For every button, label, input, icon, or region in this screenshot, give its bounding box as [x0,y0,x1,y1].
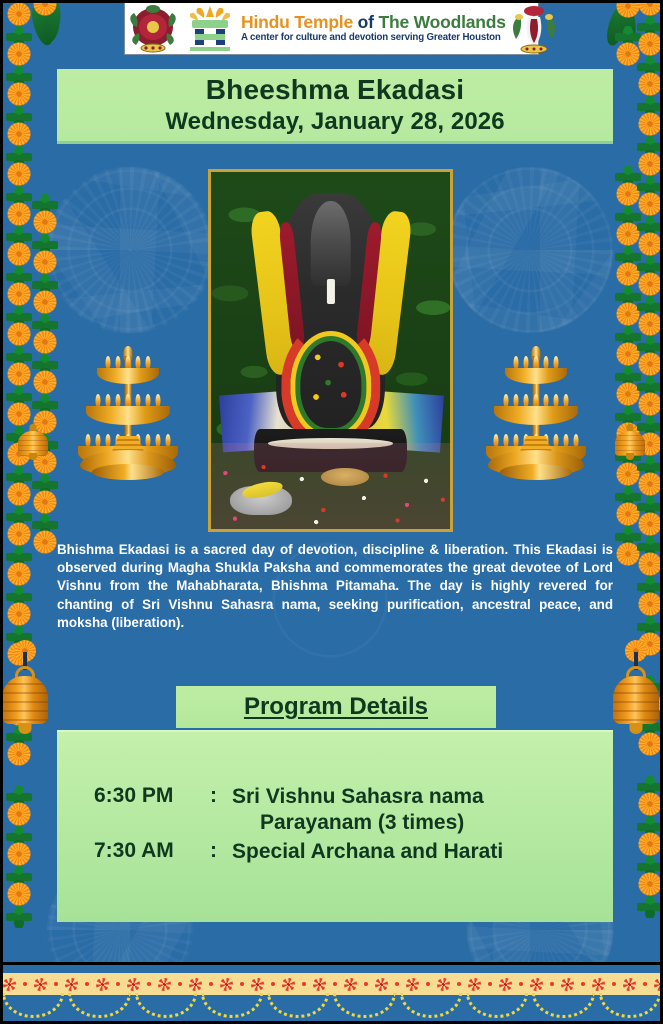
flower-band-unit [465,978,496,991]
flower-dot-icon [426,982,430,986]
logo-title-part2: of [358,12,374,32]
lamp-tier-2 [86,406,170,425]
schedule-list: 6:30 PM : Sri Vishnu Sahasra nama Paraya… [94,784,593,869]
red-flower-icon [561,978,574,991]
schedule-row: 6:30 PM : Sri Vishnu Sahasra nama Paraya… [94,784,593,835]
scallop-arc [133,993,199,1017]
event-date: Wednesday, January 28, 2026 [165,108,504,136]
program-schedule-panel: 6:30 PM : Sri Vishnu Sahasra nama Paraya… [57,730,613,922]
bottom-floral-border [0,962,663,1024]
flower-band-unit [279,978,310,991]
flower-dot-icon [116,982,120,986]
flower-dot-icon [643,982,647,986]
lamp-tier-1 [505,368,567,384]
flower-band-unit [248,978,279,991]
scallop-arc [398,993,464,1017]
flower-band-unit [93,978,124,991]
deity-photo-content [211,172,450,529]
schedule-separator: : [210,784,232,808]
red-flower-icon [34,978,47,991]
flower-dot-icon [488,982,492,986]
flower-dot-icon [85,982,89,986]
flower-dot-icon [581,982,585,986]
schedule-description: Special Archana and Harati [232,839,503,865]
flower-dot-icon [54,982,58,986]
flower-band-unit [310,978,341,991]
red-flower-icon [344,978,357,991]
flower-dot-icon [209,982,213,986]
logo-tagline: A center for culture and devotion servin… [241,33,506,43]
schedule-description: Sri Vishnu Sahasra nama Parayanam (3 tim… [232,784,484,835]
scallop-arc [331,993,397,1017]
flower-band-unit [651,978,663,991]
logo-title-part3: The Woodlands [378,12,505,32]
schedule-row: 7:30 AM : Special Archana and Harati [94,839,593,865]
program-details-label: Program Details [244,693,428,721]
page-title: Bheeshma Ekadasi [206,74,464,106]
red-flower-icon [220,978,233,991]
red-flower-icon [592,978,605,991]
flower-band-unit [0,978,31,991]
flower-band-unit [124,978,155,991]
flower-dot-icon [395,982,399,986]
flower-dot-icon [550,982,554,986]
schedule-description-line1: Special Archana and Harati [232,840,503,863]
schedule-description-line1: Sri Vishnu Sahasra nama [232,785,484,808]
red-flower-icon [96,978,109,991]
oil-lamp-deepam-icon [73,342,183,482]
flower-band-unit [186,978,217,991]
deity-photo [208,169,453,532]
scallop-arc [0,993,66,1017]
oil-lamp-deepam-icon [481,342,591,482]
chest-flowers [304,343,357,414]
offering-plate [321,468,369,486]
flower-dot-icon [612,982,616,986]
red-flower-icon [313,978,326,991]
red-flower-icon [406,978,419,991]
schedule-time: 7:30 AM [94,839,210,863]
flower-band-unit [558,978,589,991]
flower-band-unit [341,978,372,991]
schedule-time: 6:30 PM [94,784,210,808]
lamp-tier-1 [97,368,159,384]
flower-dot-icon [364,982,368,986]
temple-logo-strip: Hindu Temple of The Woodlands A center f… [124,2,539,55]
scallop-arc [66,993,132,1017]
logo-text-block: Hindu Temple of The Woodlands A center f… [239,14,506,43]
temple-emblem-icon [125,3,181,54]
flower-band-unit [372,978,403,991]
red-flower-icon [468,978,481,991]
flower-dot-icon [23,982,27,986]
deity-crown [310,201,351,287]
red-flower-icon [654,978,663,991]
flower-band-unit [31,978,62,991]
flower-band [0,973,663,995]
flower-band-unit [589,978,620,991]
scallop-arc [199,993,265,1017]
red-flower-icon [65,978,78,991]
red-flower-icon [499,978,512,991]
flower-band-unit [217,978,248,991]
red-flower-icon [158,978,171,991]
logo-title-line: Hindu Temple of The Woodlands [241,14,506,32]
flower-band-unit [620,978,651,991]
flower-band-unit [496,978,527,991]
flower-band-unit [403,978,434,991]
event-description: Bhishma Ekadasi is a sacred day of devot… [57,541,613,632]
flower-dot-icon [333,982,337,986]
logo-title-part1: Hindu Temple [241,12,353,32]
red-flower-icon [189,978,202,991]
red-flower-icon [375,978,388,991]
red-flower-icon [127,978,140,991]
lamp-tier-2 [494,406,578,425]
flower-dot-icon [240,982,244,986]
lamp-base-foot [500,464,572,480]
scallop-arc [530,993,596,1017]
red-flower-icon [282,978,295,991]
scallop-arc [597,993,663,1017]
red-flower-icon [3,978,16,991]
red-flower-icon [251,978,264,991]
schedule-description-line2: Parayanam (3 times) [232,810,484,836]
scalloped-dot-garland [0,993,663,1017]
program-details-heading: Program Details [176,686,496,728]
flower-band-unit [527,978,558,991]
flower-dot-icon [147,982,151,986]
schedule-separator: : [210,839,232,863]
event-flyer: Hindu Temple of The Woodlands A center f… [0,0,663,1024]
scallop-arc [464,993,530,1017]
flower-dot-icon [457,982,461,986]
flower-band-unit [155,978,186,991]
event-title-block: Bheeshma Ekadasi Wednesday, January 28, … [57,66,613,144]
flower-band-unit [62,978,93,991]
red-flower-icon [623,978,636,991]
header-banner: Hindu Temple of The Woodlands A center f… [0,0,663,58]
scallop-arc [265,993,331,1017]
flower-dot-icon [302,982,306,986]
lotus-logo-icon [181,3,239,54]
flower-dot-icon [178,982,182,986]
flower-dot-icon [519,982,523,986]
temple-emblem-icon [506,3,562,54]
flower-band-unit [434,978,465,991]
flower-dot-icon [271,982,275,986]
red-flower-icon [530,978,543,991]
deity-namam-mark [326,279,334,304]
lamp-base-foot [92,464,164,480]
red-flower-icon [437,978,450,991]
